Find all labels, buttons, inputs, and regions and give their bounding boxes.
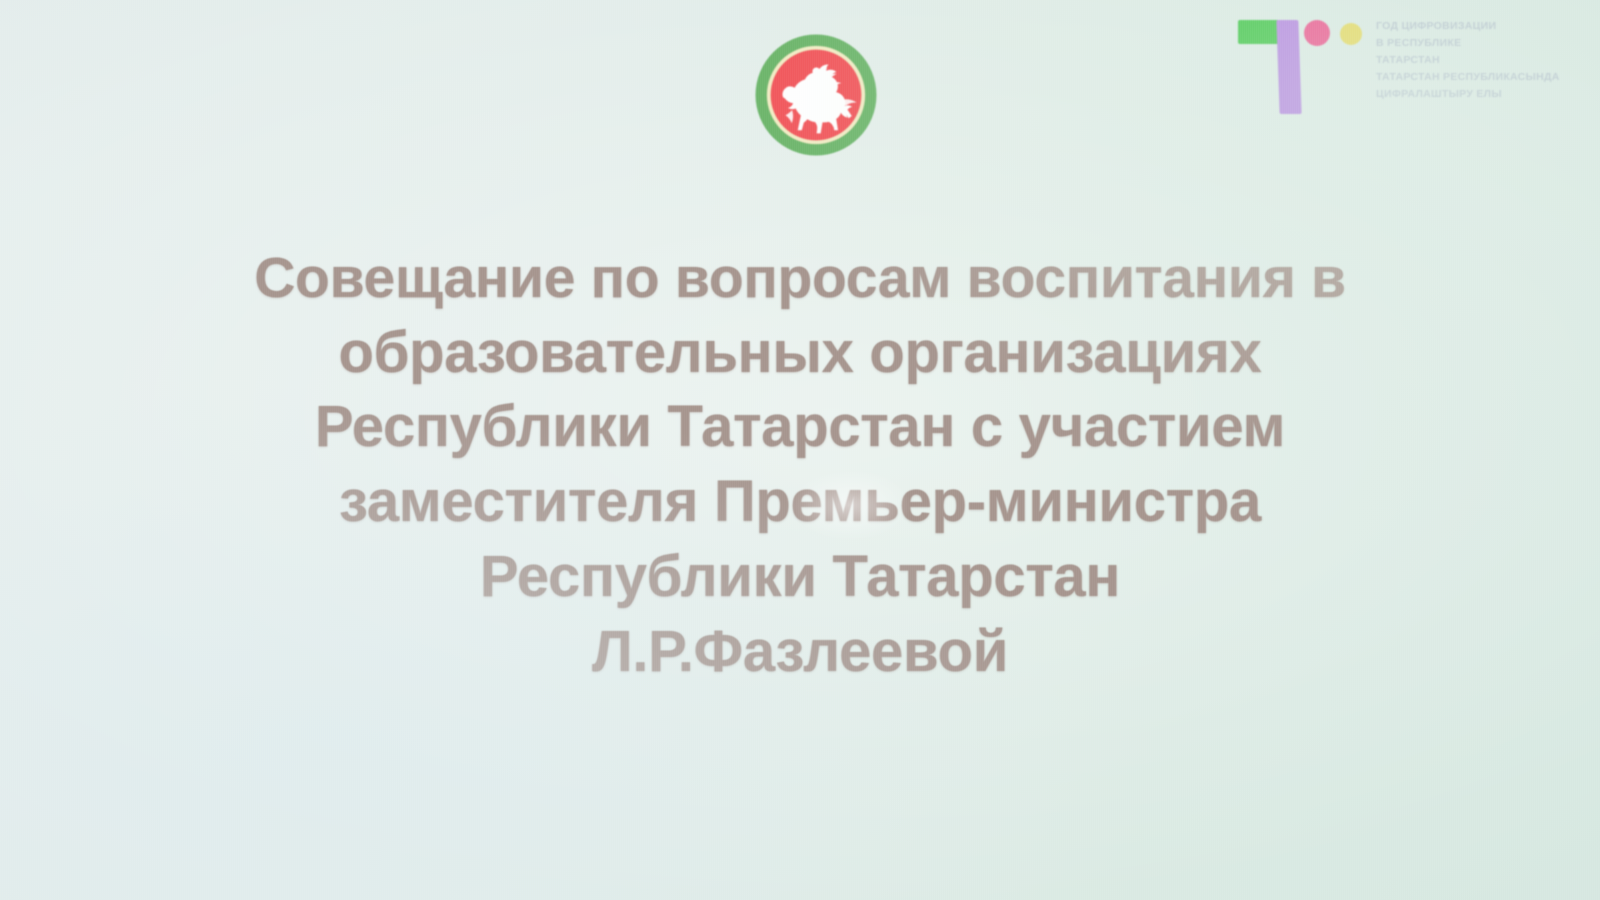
title-line-4: заместителя Премьер-министра: [0, 465, 1600, 540]
slide-title: Совещание по вопросам воспитания в образ…: [0, 242, 1600, 690]
year-of-digitalization-mark: [1228, 8, 1358, 116]
year-of-digitalization-logo: ГОД ЦИФРОВИЗАЦИИ В РЕСПУБЛИКЕ ТАТАРСТАН …: [1228, 8, 1568, 118]
title-line-3: Республики Татарстан с участием: [0, 390, 1600, 465]
caption-line-5: ЦИФРАЛАШТЫРУ ЕЛЫ: [1376, 86, 1566, 103]
caption-line-2: В РЕСПУБЛИКЕ: [1376, 35, 1566, 52]
tatarstan-coat-of-arms-icon: [753, 32, 879, 158]
logo-pink-dot-shape: [1304, 20, 1330, 46]
title-line-6: Л.Р.Фазлеевой: [0, 615, 1600, 690]
caption-line-3: ТАТАРСТАН: [1376, 52, 1566, 69]
presentation-slide: ГОД ЦИФРОВИЗАЦИИ В РЕСПУБЛИКЕ ТАТАРСТАН …: [0, 0, 1600, 900]
title-line-5: Республики Татарстан: [0, 540, 1600, 615]
title-line-2: образовательных организациях: [0, 316, 1600, 391]
logo-purple-bar-shape: [1276, 20, 1301, 114]
year-of-digitalization-caption: ГОД ЦИФРОВИЗАЦИИ В РЕСПУБЛИКЕ ТАТАРСТАН …: [1376, 18, 1566, 103]
logo-yellow-dot-shape: [1340, 23, 1362, 45]
caption-line-1: ГОД ЦИФРОВИЗАЦИИ: [1376, 18, 1566, 35]
caption-line-4: ТАТАРСТАН РЕСПУБЛИКАСЫНДА: [1376, 69, 1566, 86]
title-line-1: Совещание по вопросам воспитания в: [0, 242, 1600, 316]
